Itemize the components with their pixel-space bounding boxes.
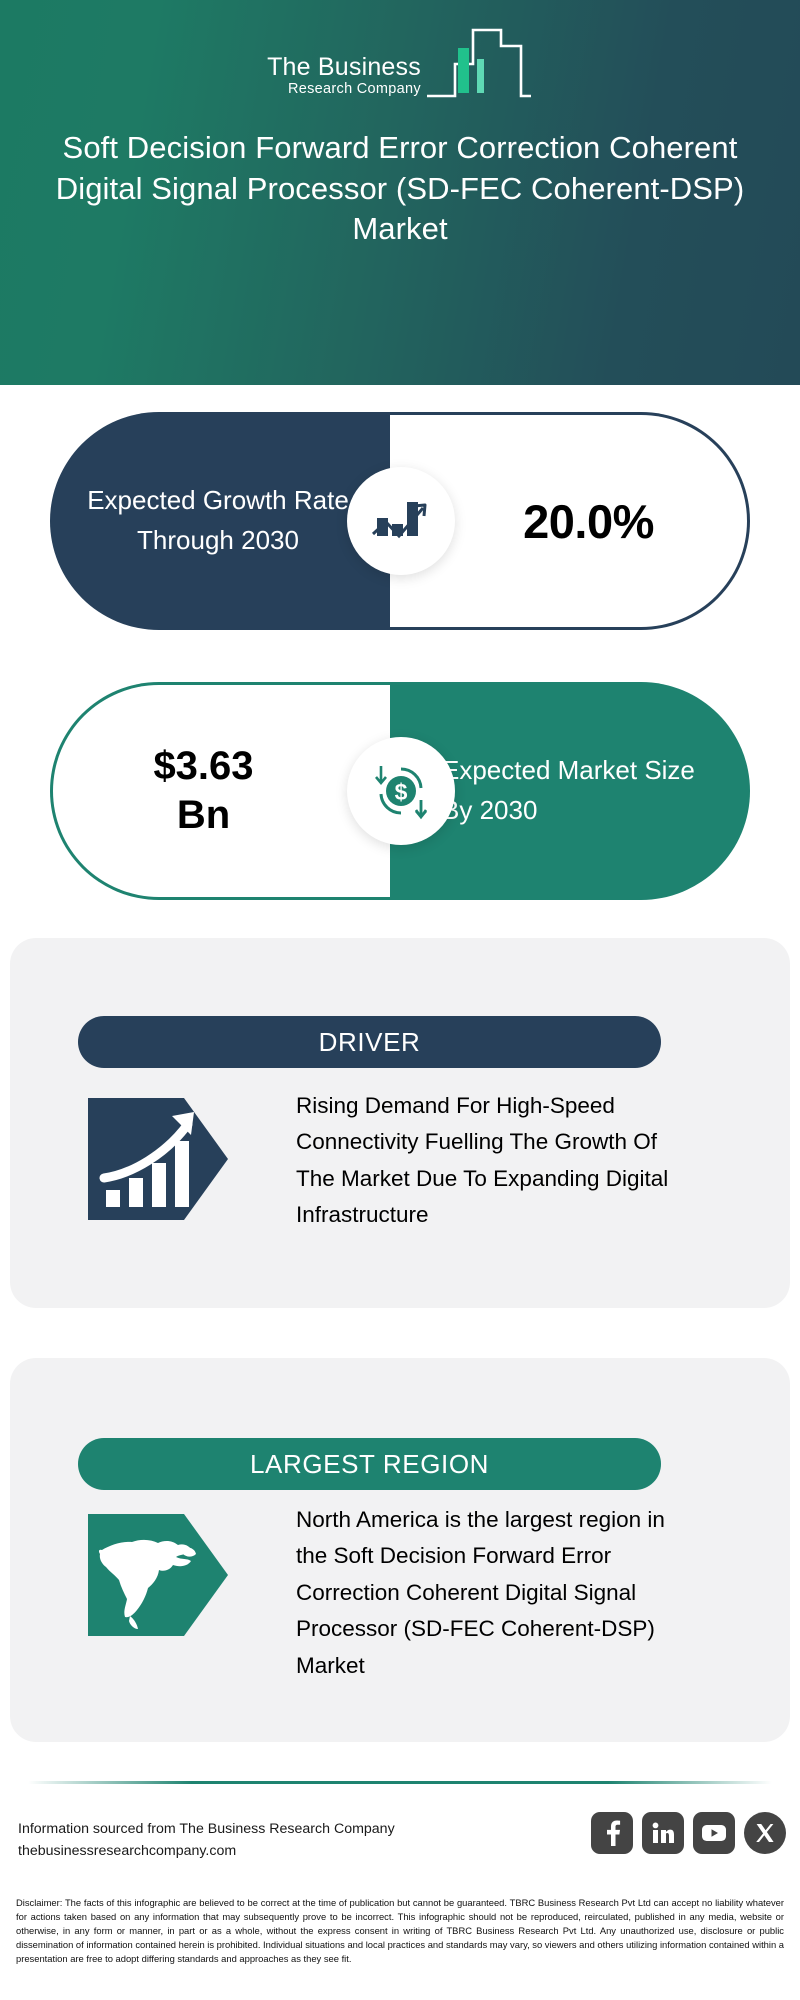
market-size-value-line1: $3.63 (153, 742, 253, 791)
driver-body-text: Rising Demand For High-Speed Connectivit… (296, 1088, 696, 1234)
growth-bar-chart-arrow-icon (347, 467, 455, 575)
rising-bar-chart-arrow-pentagon-icon (88, 1098, 228, 1220)
social-links (591, 1812, 786, 1854)
bar-chart-logo-icon (425, 26, 533, 102)
market-size-value: $3.63 Bn (153, 742, 289, 840)
x-twitter-icon[interactable] (744, 1812, 786, 1854)
header-banner: The Business Research Company Soft Decis… (0, 0, 800, 385)
facebook-icon[interactable] (591, 1812, 633, 1854)
source-attribution: Information sourced from The Business Re… (18, 1818, 395, 1862)
largest-region-body-text: North America is the largest region in t… (296, 1502, 696, 1684)
stat-card-growth-rate-label: Expected Growth Rate Through 2030 (50, 412, 390, 630)
dollar-recycle-arrows-icon: $ (347, 737, 455, 845)
growth-rate-value: 20.0% (483, 494, 654, 549)
source-line-1: Information sourced from The Business Re… (18, 1818, 395, 1840)
north-america-map-pentagon-icon (88, 1514, 228, 1636)
stat-card-market-size-value-box: $3.63 Bn (50, 682, 390, 900)
page-title: Soft Decision Forward Error Correction C… (50, 128, 750, 250)
source-website[interactable]: thebusinessresearchcompany.com (18, 1840, 395, 1862)
youtube-icon[interactable] (693, 1812, 735, 1854)
logo-line-2: Research Company (267, 81, 421, 98)
company-logo: The Business Research Company (0, 26, 800, 102)
driver-heading-label: DRIVER (319, 1027, 421, 1058)
infographic-page: The Business Research Company Soft Decis… (0, 0, 800, 2000)
svg-text:$: $ (395, 779, 408, 805)
linkedin-icon[interactable] (642, 1812, 684, 1854)
driver-heading-badge: DRIVER (78, 1016, 661, 1068)
logo-wordmark: The Business Research Company (267, 54, 425, 102)
disclaimer-text: Disclaimer: The facts of this infographi… (16, 1896, 784, 1966)
largest-region-heading-badge: LARGEST REGION (78, 1438, 661, 1490)
market-size-value-line2: Bn (153, 791, 253, 840)
largest-region-heading-label: LARGEST REGION (250, 1449, 489, 1480)
logo-line-1: The Business (267, 54, 421, 80)
footer-divider (28, 1781, 772, 1784)
